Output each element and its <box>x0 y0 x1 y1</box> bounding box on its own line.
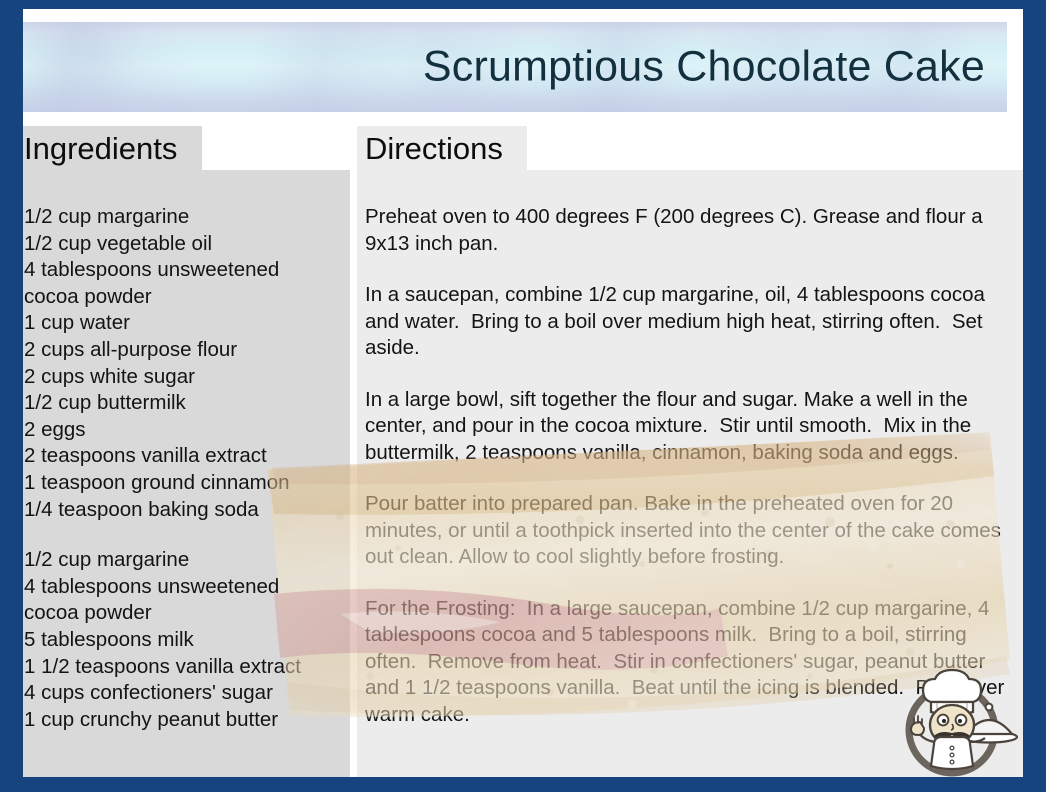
ingredient-item: 1/2 cup vegetable oil <box>24 231 336 258</box>
ingredient-item: 1/2 cup margarine <box>24 547 336 574</box>
slide-border-bottom <box>0 777 1046 792</box>
ingredient-item: 2 eggs <box>24 417 336 444</box>
ingredient-item: 1 teaspoon ground cinnamon <box>24 470 336 497</box>
ingredients-panel: Ingredients 1/2 cup margarine 1/2 cup ve… <box>16 126 350 777</box>
ingredients-heading: Ingredients <box>24 133 177 164</box>
ingredient-group-frosting: 1/2 cup margarine 4 tablespoons unsweete… <box>24 547 336 733</box>
ingredient-item: 2 cups white sugar <box>24 364 336 391</box>
ingredient-item: 2 cups all-purpose flour <box>24 337 336 364</box>
ingredient-item: 1 1/2 teaspoons vanilla extract <box>24 654 336 681</box>
ingredient-item: 1/2 cup margarine <box>24 204 336 231</box>
slide-border-left <box>0 0 23 792</box>
chef-logo <box>890 662 1018 778</box>
ingredient-item: 1/4 teaspoon baking soda <box>24 497 336 524</box>
page-title: Scrumptious Chocolate Cake <box>423 44 985 89</box>
ingredient-item: 4 tablespoons unsweetened cocoa powder <box>24 257 336 310</box>
ingredient-item: 2 teaspoons vanilla extract <box>24 443 336 470</box>
ingredients-heading-box: Ingredients <box>16 126 202 170</box>
ingredients-heading-row: Ingredients <box>16 126 350 170</box>
slide-border-top <box>0 0 1046 9</box>
ingredient-item: 5 tablespoons milk <box>24 627 336 654</box>
directions-heading-row: Directions <box>357 126 1023 170</box>
direction-step: Pour batter into prepared pan. Bake in t… <box>365 491 1009 571</box>
direction-step: Preheat oven to 400 degrees F (200 degre… <box>365 204 1009 257</box>
ingredient-item: 4 cups confectioners' sugar <box>24 680 336 707</box>
directions-heading-box: Directions <box>357 126 527 170</box>
recipe-slide: Scrumptious Chocolate Cake Ingredients 1… <box>0 0 1046 792</box>
ingredient-item: 4 tablespoons unsweetened cocoa powder <box>24 574 336 627</box>
slide-border-right <box>1023 0 1046 792</box>
direction-step: In a large bowl, sift together the flour… <box>365 387 1009 467</box>
ingredients-body: 1/2 cup margarine 1/2 cup vegetable oil … <box>16 170 350 777</box>
direction-step: In a saucepan, combine 1/2 cup margarine… <box>365 282 1009 362</box>
ingredient-item: 1/2 cup buttermilk <box>24 390 336 417</box>
ingredient-item: 1 cup water <box>24 310 336 337</box>
ingredient-group-cake: 1/2 cup margarine 1/2 cup vegetable oil … <box>24 204 336 523</box>
ingredient-item: 1 cup crunchy peanut butter <box>24 707 336 734</box>
title-band: Scrumptious Chocolate Cake <box>16 22 1007 112</box>
directions-heading: Directions <box>365 133 503 164</box>
